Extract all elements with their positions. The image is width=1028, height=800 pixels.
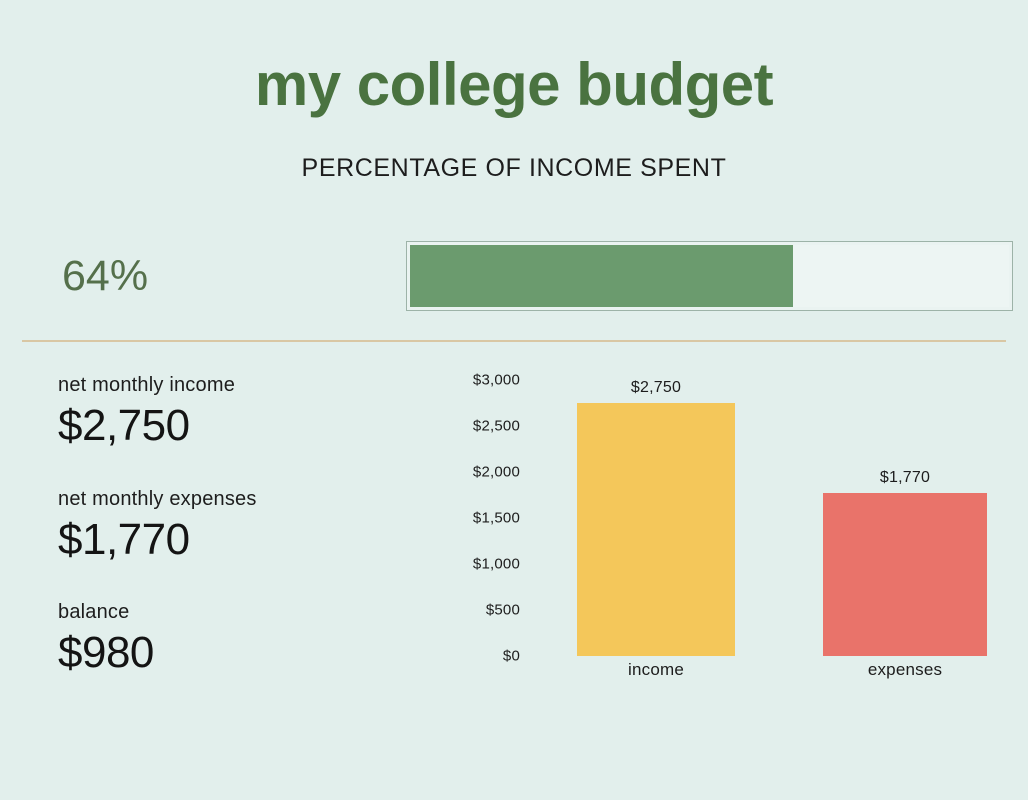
percentage-progress-bar xyxy=(406,241,1013,311)
bar-value-label: $1,770 xyxy=(823,469,987,487)
income-expenses-bar-chart: $3,000$2,500$2,000$1,500$1,000$500$0 $2,… xyxy=(440,380,1010,700)
y-axis-tick: $3,000 xyxy=(440,372,520,389)
section-divider xyxy=(22,340,1006,342)
stat-label: balance xyxy=(58,601,418,624)
bar-category-label: income xyxy=(577,660,735,680)
stat-label: net monthly expenses xyxy=(58,488,418,511)
stat-net-monthly-expenses: net monthly expenses $1,770 xyxy=(58,488,418,566)
stat-value: $1,770 xyxy=(58,515,418,566)
bar-group-expenses: $1,770 expenses xyxy=(823,380,987,656)
stat-balance: balance $980 xyxy=(58,601,418,679)
chart-plot-area: $2,750 income $1,770 expenses xyxy=(540,380,1010,680)
stat-label: net monthly income xyxy=(58,374,418,397)
bar-category-label: expenses xyxy=(823,660,987,680)
stat-net-monthly-income: net monthly income $2,750 xyxy=(58,374,418,452)
y-axis-tick: $0 xyxy=(440,648,520,665)
y-axis-tick: $500 xyxy=(440,602,520,619)
bar-expenses xyxy=(823,493,987,656)
y-axis-tick: $1,000 xyxy=(440,556,520,573)
bar-income xyxy=(577,403,735,656)
budget-infographic: my college budget PERCENTAGE OF INCOME S… xyxy=(0,0,1028,800)
bar-value-label: $2,750 xyxy=(577,379,735,397)
bar-group-income: $2,750 income xyxy=(577,380,735,656)
page-title: my college budget xyxy=(0,52,1028,118)
percentage-value: 64% xyxy=(62,252,148,301)
y-axis-tick: $1,500 xyxy=(440,510,520,527)
summary-stats: net monthly income $2,750 net monthly ex… xyxy=(58,374,418,679)
stat-value: $980 xyxy=(58,628,418,679)
page-subtitle: PERCENTAGE OF INCOME SPENT xyxy=(0,154,1028,183)
chart-y-axis: $3,000$2,500$2,000$1,500$1,000$500$0 xyxy=(440,380,520,680)
y-axis-tick: $2,000 xyxy=(440,464,520,481)
stat-value: $2,750 xyxy=(58,401,418,452)
progress-fill xyxy=(410,245,793,307)
progress-track-inner xyxy=(410,245,1009,307)
y-axis-tick: $2,500 xyxy=(440,418,520,435)
